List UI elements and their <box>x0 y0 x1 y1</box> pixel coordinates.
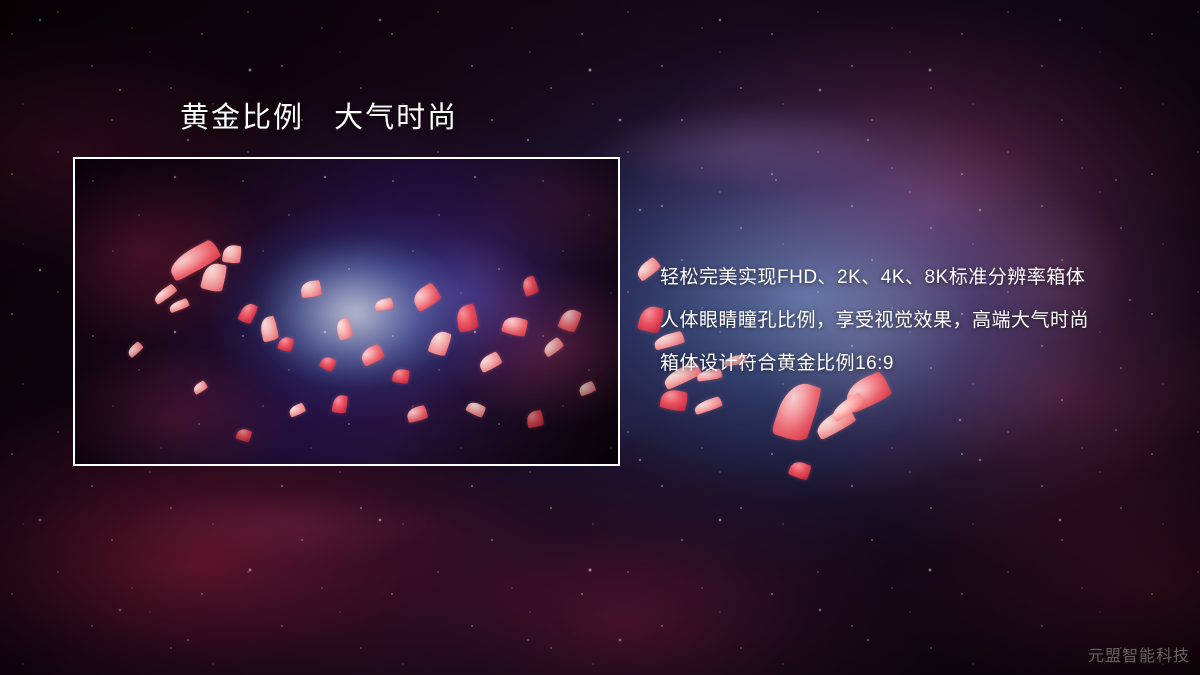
feature-copy-block: 轻松完美实现FHD、2K、4K、8K标准分辨率箱体 人体眼睛瞳孔比例，享受视觉效… <box>660 256 1160 385</box>
photo-frame <box>73 157 620 466</box>
photo-vignette <box>75 159 618 464</box>
copy-line: 轻松完美实现FHD、2K、4K、8K标准分辨率箱体 <box>660 256 1160 299</box>
copy-line: 人体眼睛瞳孔比例，享受视觉效果，高端大气时尚 <box>660 299 1160 342</box>
page-title: 黄金比例 大气时尚 <box>180 101 458 136</box>
watermark: 元盟智能科技 <box>1088 642 1190 666</box>
presentation-slide: 黄金比例 大气时尚 <box>0 0 1200 675</box>
copy-line: 箱体设计符合黄金比例16:9 <box>660 342 1160 385</box>
